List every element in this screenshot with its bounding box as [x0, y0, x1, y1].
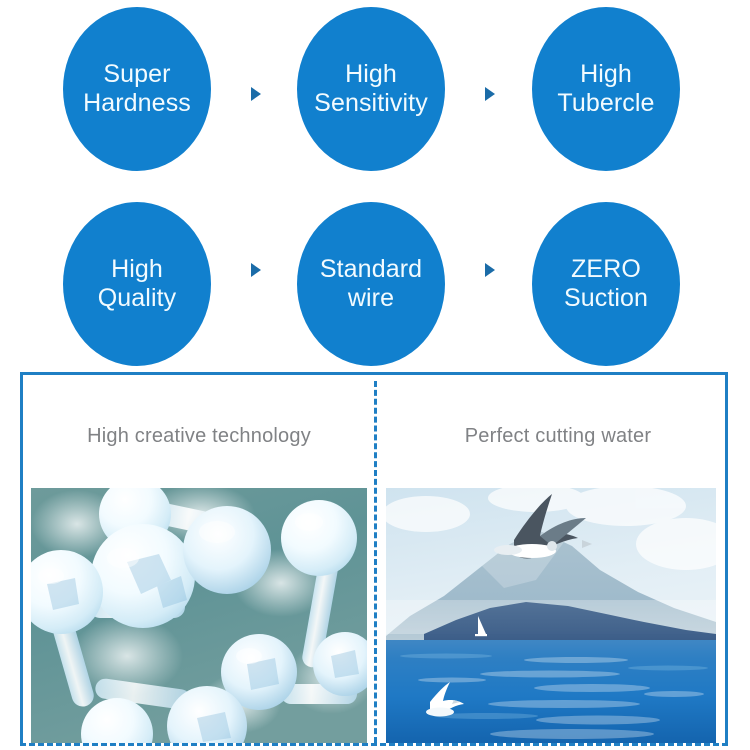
- arrow-right-icon: [485, 263, 495, 277]
- feature-bubble-line-2: wire: [348, 284, 394, 313]
- feature-bubble-high-quality[interactable]: High Quality: [63, 202, 211, 366]
- feature-bubble-zero-suction[interactable]: ZERO Suction: [532, 202, 680, 366]
- sea-and-seagulls-image: [386, 488, 716, 743]
- showcase-panel: High creative technology: [20, 372, 728, 746]
- showcase-panel-left: High creative technology: [23, 375, 375, 743]
- feature-bubble-standard-wire[interactable]: Standard wire: [297, 202, 445, 366]
- feature-bubble-line-2: Sensitivity: [314, 89, 428, 118]
- feature-bubble-line-2: Tubercle: [557, 89, 654, 118]
- feature-bubble-line-2: Quality: [98, 284, 177, 313]
- feature-bubble-high-tubercle[interactable]: High Tubercle: [532, 7, 680, 171]
- showcase-caption-right: Perfect cutting water: [376, 425, 734, 448]
- feature-bubble-super-hardness[interactable]: Super Hardness: [63, 7, 211, 171]
- feature-bubble-line-1: Standard: [320, 255, 422, 284]
- feature-bubble-line-2: Suction: [564, 284, 648, 313]
- feature-bubble-line-1: High: [580, 60, 632, 89]
- feature-row-1: Super Hardness High Sensitivity High Tub…: [0, 0, 750, 180]
- feature-bubble-line-2: Hardness: [83, 89, 191, 118]
- showcase-caption-left: High creative technology: [23, 425, 387, 448]
- showcase-panel-right: Perfect cutting water: [376, 375, 728, 743]
- feature-bubble-line-1: Super: [103, 60, 170, 89]
- arrow-right-icon: [251, 263, 261, 277]
- arrow-right-icon: [251, 87, 261, 101]
- feature-row-2: High Quality Standard wire ZERO Suction: [0, 180, 750, 360]
- feature-bubble-line-1: ZERO: [571, 255, 641, 284]
- feature-bubble-high-sensitivity[interactable]: High Sensitivity: [297, 7, 445, 171]
- feature-bubble-line-1: High: [345, 60, 397, 89]
- ice-crystal-molecule-image: [31, 488, 367, 743]
- feature-bubble-line-1: High: [111, 255, 163, 284]
- arrow-right-icon: [485, 87, 495, 101]
- features-section: Super Hardness High Sensitivity High Tub…: [0, 0, 750, 360]
